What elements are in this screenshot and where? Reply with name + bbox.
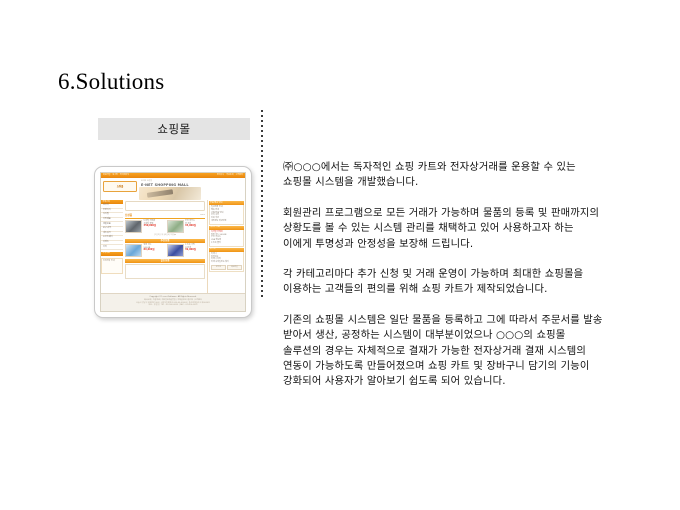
site-header: 쇼핑몰 온라인 쇼핑몰 E-NET SHOPPING MALL	[101, 178, 245, 200]
login-button[interactable]: 로그인	[211, 265, 226, 270]
search-input[interactable]	[125, 201, 205, 211]
topbar-link-mypage[interactable]: 마이페이지	[120, 174, 129, 177]
site-logo[interactable]: 쇼핑몰	[103, 181, 137, 192]
site-center-column: 신상품 more 디지털 카메라 고화질 촬영 350,000원	[123, 200, 207, 293]
product-row: 외장 하드 500GB 89,000원 노트북 가방 15인치 39,000원	[125, 244, 205, 257]
right-box-body-login: 아이디 비밀번호 아이디 저장 아이디/비밀번호 찾기 로그인 회원가입	[209, 252, 244, 272]
topbar-right-links: 장바구니 주문조회 고객센터	[217, 174, 243, 177]
site-left-nav: 카테고리 컴퓨터 주변기기 디지털 가전제품 생활용품 문구/사무 네트워크 소…	[101, 200, 124, 293]
product-thumbnail	[125, 220, 142, 233]
product-price: 89,000원	[144, 249, 155, 252]
section-header-new-products: 신상품 more	[125, 213, 205, 219]
product-info: 외장 하드 500GB 89,000원	[144, 244, 155, 252]
footer-contact: 대표 : 홍길동 | TEL : 02-000-0000 | FAX : 02-…	[101, 304, 245, 307]
shopping-mall-website-screenshot: 회원가입 로그인 마이페이지 장바구니 주문조회 고객센터 쇼핑몰 온라인 쇼핑…	[100, 172, 246, 312]
product-row: 디지털 카메라 고화질 촬영 350,000원 무선 마우스 광 센서 45,0…	[125, 220, 205, 233]
product-thumbnail	[125, 244, 142, 257]
site-right-column: 주문/배송 안내 입금계좌 안내 배송 안내 교환/반품 안내 공지 사항 이용…	[207, 200, 245, 293]
topbar-link-cart[interactable]: 장바구니	[217, 174, 224, 177]
presentation-slide: 6.Solutions 쇼핑몰 회원가입 로그인 마이페이지 장바구니 주문조회…	[0, 0, 680, 510]
hero-banner-image	[139, 187, 201, 200]
body-paragraph: 회원관리 프로그램으로 모든 거래가 가능하며 물품의 등록 및 판매까지의 상…	[283, 206, 605, 252]
topbar-link-join[interactable]: 회원가입	[103, 174, 110, 177]
body-paragraph: ㈜○○○에서는 독자적인 쇼핑 카트와 전자상거래를 운용할 수 있는 쇼핑몰 …	[283, 160, 605, 191]
left-nav-item[interactable]: 기타	[101, 245, 123, 250]
topbar-link-orders[interactable]: 주문조회	[226, 174, 233, 177]
topbar-link-login[interactable]: 로그인	[112, 174, 118, 177]
product-card[interactable]: 무선 마우스 광 센서 45,000원	[167, 220, 206, 233]
more-link[interactable]: more	[200, 214, 205, 217]
topbar-link-support[interactable]: 고객센터	[236, 174, 243, 177]
right-box-body-order: 입금계좌 안내 배송 안내 교환/반품 안내 공지 사항 이용 약관 개인정보 …	[209, 205, 244, 225]
right-box-item[interactable]: 노트북 쿨러	[211, 242, 242, 245]
product-card[interactable]: 디지털 카메라 고화질 촬영 350,000원	[125, 220, 164, 233]
right-box-body-best: 디지털 카메라 외장 하드 500GB 무선 키보드 USB 메모리 노트북 쿨…	[209, 230, 244, 247]
page-title: 6.Solutions	[58, 68, 164, 96]
pagination[interactable]: [1] [2] [3] [4] [5] 다음 ▶	[123, 234, 207, 237]
product-price: 45,000원	[185, 225, 196, 228]
dotted-divider	[261, 110, 263, 298]
empty-content-panel	[125, 264, 205, 279]
caption-box-label: 쇼핑몰	[157, 121, 190, 137]
section-bar-recommended: 추천상품	[125, 239, 205, 244]
caption-box: 쇼핑몰	[98, 118, 250, 140]
body-paragraph: 기존의 쇼핑몰 시스템은 일단 물품을 등록하고 그에 따라서 주문서를 발송 …	[283, 313, 605, 390]
product-thumbnail	[167, 220, 184, 233]
right-box-item[interactable]: 개인정보 취급방침	[211, 220, 242, 223]
site-footer: Copyright (C) e-net Software. All Rights…	[101, 293, 245, 311]
find-id-pw-link[interactable]: 아이디/비밀번호 찾기	[211, 261, 242, 264]
product-price: 350,000원	[144, 225, 157, 228]
left-nav-header-support: 고객지원	[101, 252, 123, 256]
screenshot-frame: 회원가입 로그인 마이페이지 장바구니 주문조회 고객센터 쇼핑몰 온라인 쇼핑…	[94, 166, 252, 318]
section-title: 신상품	[125, 214, 132, 217]
section-bar-sale: 할인상품	[125, 259, 205, 264]
body-text-column: ㈜○○○에서는 독자적인 쇼핑 카트와 전자상거래를 운용할 수 있는 쇼핑몰 …	[283, 160, 605, 390]
signup-button[interactable]: 회원가입	[227, 265, 242, 270]
product-card[interactable]: 외장 하드 500GB 89,000원	[125, 244, 164, 257]
product-thumbnail	[167, 244, 184, 257]
body-paragraph: 각 카테고리마다 추가 신청 및 거래 운영이 가능하며 최대한 쇼핑몰을 이용…	[283, 267, 605, 298]
product-info: 노트북 가방 15인치 39,000원	[185, 244, 196, 252]
product-info: 무선 마우스 광 센서 45,000원	[185, 220, 196, 228]
left-nav-promo: 상담전화 안내	[101, 258, 123, 274]
product-card[interactable]: 노트북 가방 15인치 39,000원	[167, 244, 206, 257]
product-price: 39,000원	[185, 249, 196, 252]
topbar-left-links: 회원가입 로그인 마이페이지	[103, 174, 129, 177]
login-buttons: 로그인 회원가입	[211, 265, 242, 270]
site-brand: 온라인 쇼핑몰 E-NET SHOPPING MALL	[141, 180, 189, 187]
product-info: 디지털 카메라 고화질 촬영 350,000원	[144, 220, 157, 228]
